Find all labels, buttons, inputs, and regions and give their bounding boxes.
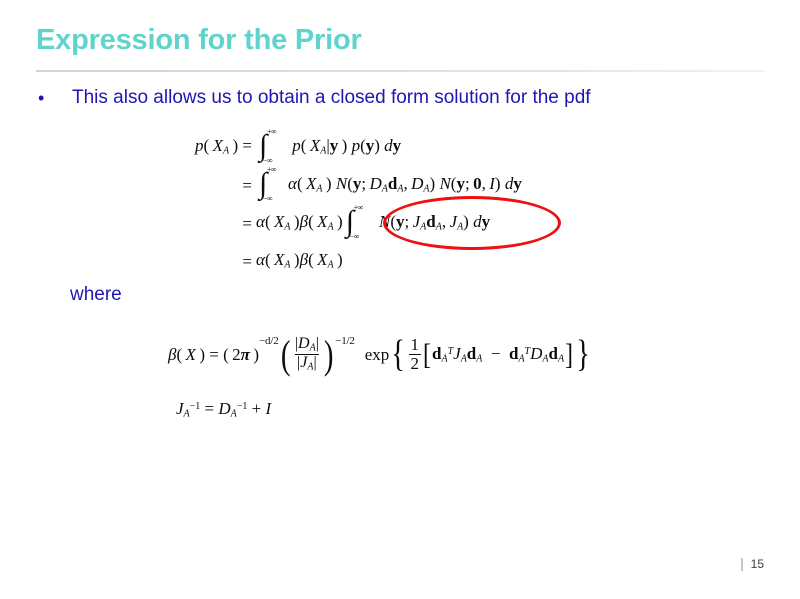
title-divider: [36, 70, 765, 72]
fraction-exponent: −1/2: [335, 336, 354, 347]
integral-lower-limit: −∞: [263, 157, 272, 165]
fraction-denominator: |JA|: [295, 354, 319, 373]
derivation-line-4: = α( XA )β( XA ): [186, 242, 522, 280]
slide-canvas: Expression for the Prior • This also all…: [0, 0, 800, 599]
integral-upper-limit: +∞: [267, 128, 276, 136]
page-number: 15: [741, 557, 764, 571]
derivation-line-1-lhs: p( XA ) =: [186, 137, 256, 157]
integral-lower-limit: −∞: [263, 195, 272, 203]
bullet-text: This also allows us to obtain a closed f…: [72, 86, 591, 110]
derivation-line-1-rhs: p( XA|y ) p(y) dy: [288, 137, 401, 157]
page-number-value: 15: [751, 557, 764, 571]
derivation-line-4-lhs: =: [186, 253, 256, 270]
brace-close: }: [576, 339, 590, 369]
bullet-item: • This also allows us to obtain a closed…: [38, 86, 591, 110]
integral-upper-limit: +∞: [354, 204, 363, 212]
derivation-line-2-lhs: =: [186, 177, 256, 194]
integral-symbol: +∞ ∫ −∞: [259, 168, 285, 202]
one-half-fraction: 1 2: [409, 336, 422, 373]
determinant-ratio-fraction: |DA| |JA|: [293, 336, 321, 373]
where-label: where: [70, 283, 122, 307]
derivation-line-3: = α( XA )β( XA ) +∞ ∫ −∞ N(y; JAdA, JA) …: [186, 204, 522, 242]
integral-upper-limit: +∞: [267, 166, 276, 174]
derivation-line-3-prefix: α( XA )β( XA ): [256, 213, 343, 233]
derivation-line-4-rhs: α( XA )β( XA ): [256, 251, 343, 271]
beta-equation: β( X ) = ( 2π )−d/2 ( |DA| |JA| )−1/2 ex…: [168, 336, 592, 373]
exp-body: dATJAdA − dATDAdA: [432, 345, 564, 365]
half-denominator: 2: [409, 354, 422, 373]
derivation-line-3-rhs: N(y; JAdA, JA) dy: [375, 213, 490, 233]
derivation-line-2: = +∞ ∫ −∞ α( XA ) N(y; DAdA, DA) N(y; 0,…: [186, 166, 522, 204]
integral-symbol: +∞ ∫ −∞: [346, 206, 372, 240]
beta-equation-base: ( 2π ): [223, 346, 259, 363]
page-title: Expression for the Prior: [36, 24, 362, 57]
derivation-line-2-rhs: α( XA ) N(y; DAdA, DA) N(y; 0, I) dy: [288, 175, 522, 195]
paren-open-big: (: [280, 339, 290, 371]
half-numerator: 1: [409, 336, 422, 354]
brace-open: {: [392, 339, 406, 369]
integral-symbol: +∞ ∫ −∞: [259, 130, 285, 164]
bullet-marker-icon: •: [38, 86, 72, 110]
beta-equation-base-exponent: −d/2: [259, 336, 278, 347]
integral-lower-limit: −∞: [350, 233, 359, 241]
bracket-close: ]: [565, 343, 573, 367]
derivation-line-3-lhs: =: [186, 215, 256, 232]
derivation-block: p( XA ) = +∞ ∫ −∞ p( XA|y ) p(y) dy = +∞…: [186, 128, 522, 280]
beta-equation-lhs: β( X ) =: [168, 346, 223, 363]
page-number-separator: [741, 558, 743, 571]
paren-close-big: ): [324, 339, 334, 371]
derivation-line-1: p( XA ) = +∞ ∫ −∞ p( XA|y ) p(y) dy: [186, 128, 522, 166]
bracket-open: [: [423, 343, 431, 367]
exp-function-label: exp: [365, 346, 390, 363]
fraction-numerator: |DA|: [293, 336, 321, 354]
j-inverse-equation: JA−1 = DA−1 + I: [176, 400, 271, 420]
